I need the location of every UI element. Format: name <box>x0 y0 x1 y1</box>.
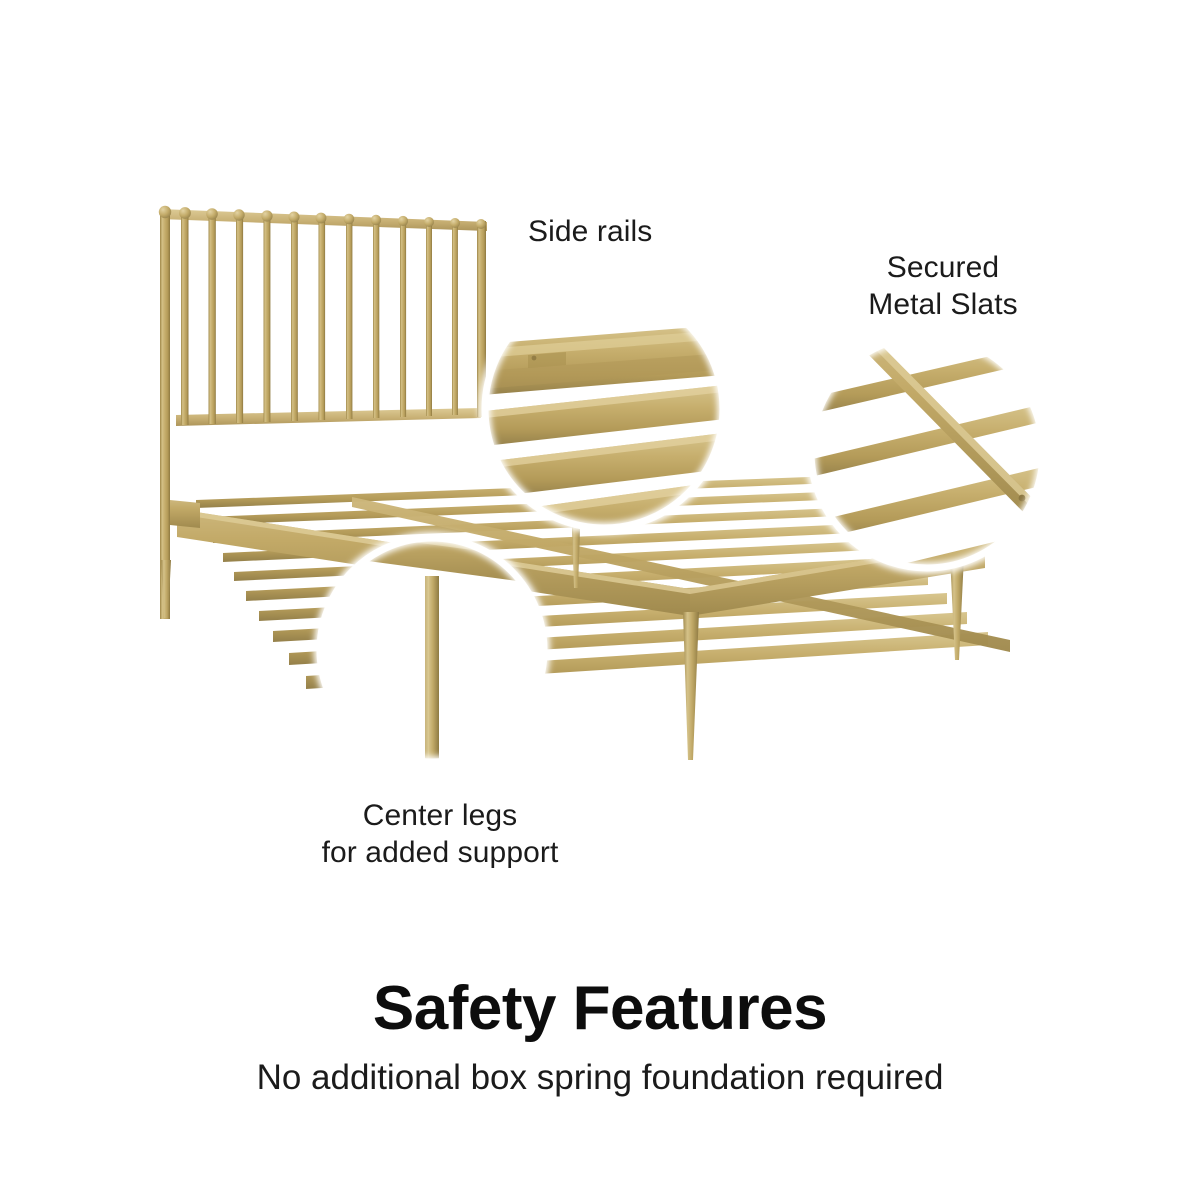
headboard-spindles <box>181 213 458 425</box>
head-end-rail <box>170 500 200 528</box>
callout-circle-metal-slats <box>800 282 1070 605</box>
bed-frame-illustration <box>0 0 1200 960</box>
infographic-page: Side rails Secured Metal Slats Center le… <box>0 0 1200 1200</box>
callout-label-center-legs: Center legs for added support <box>290 798 590 871</box>
subheadline: No additional box spring foundation requ… <box>0 1057 1200 1099</box>
callout-label-secured-metal-slats: Secured Metal Slats <box>848 250 1038 323</box>
headboard-left-post <box>160 209 170 619</box>
corner-leg-front <box>683 612 699 760</box>
product-illustration: Side rails Secured Metal Slats Center le… <box>0 0 1200 960</box>
callout-label-side-rails: Side rails <box>528 214 652 251</box>
caption-block: Safety Features No additional box spring… <box>0 975 1200 1099</box>
headline: Safety Features <box>0 975 1200 1043</box>
